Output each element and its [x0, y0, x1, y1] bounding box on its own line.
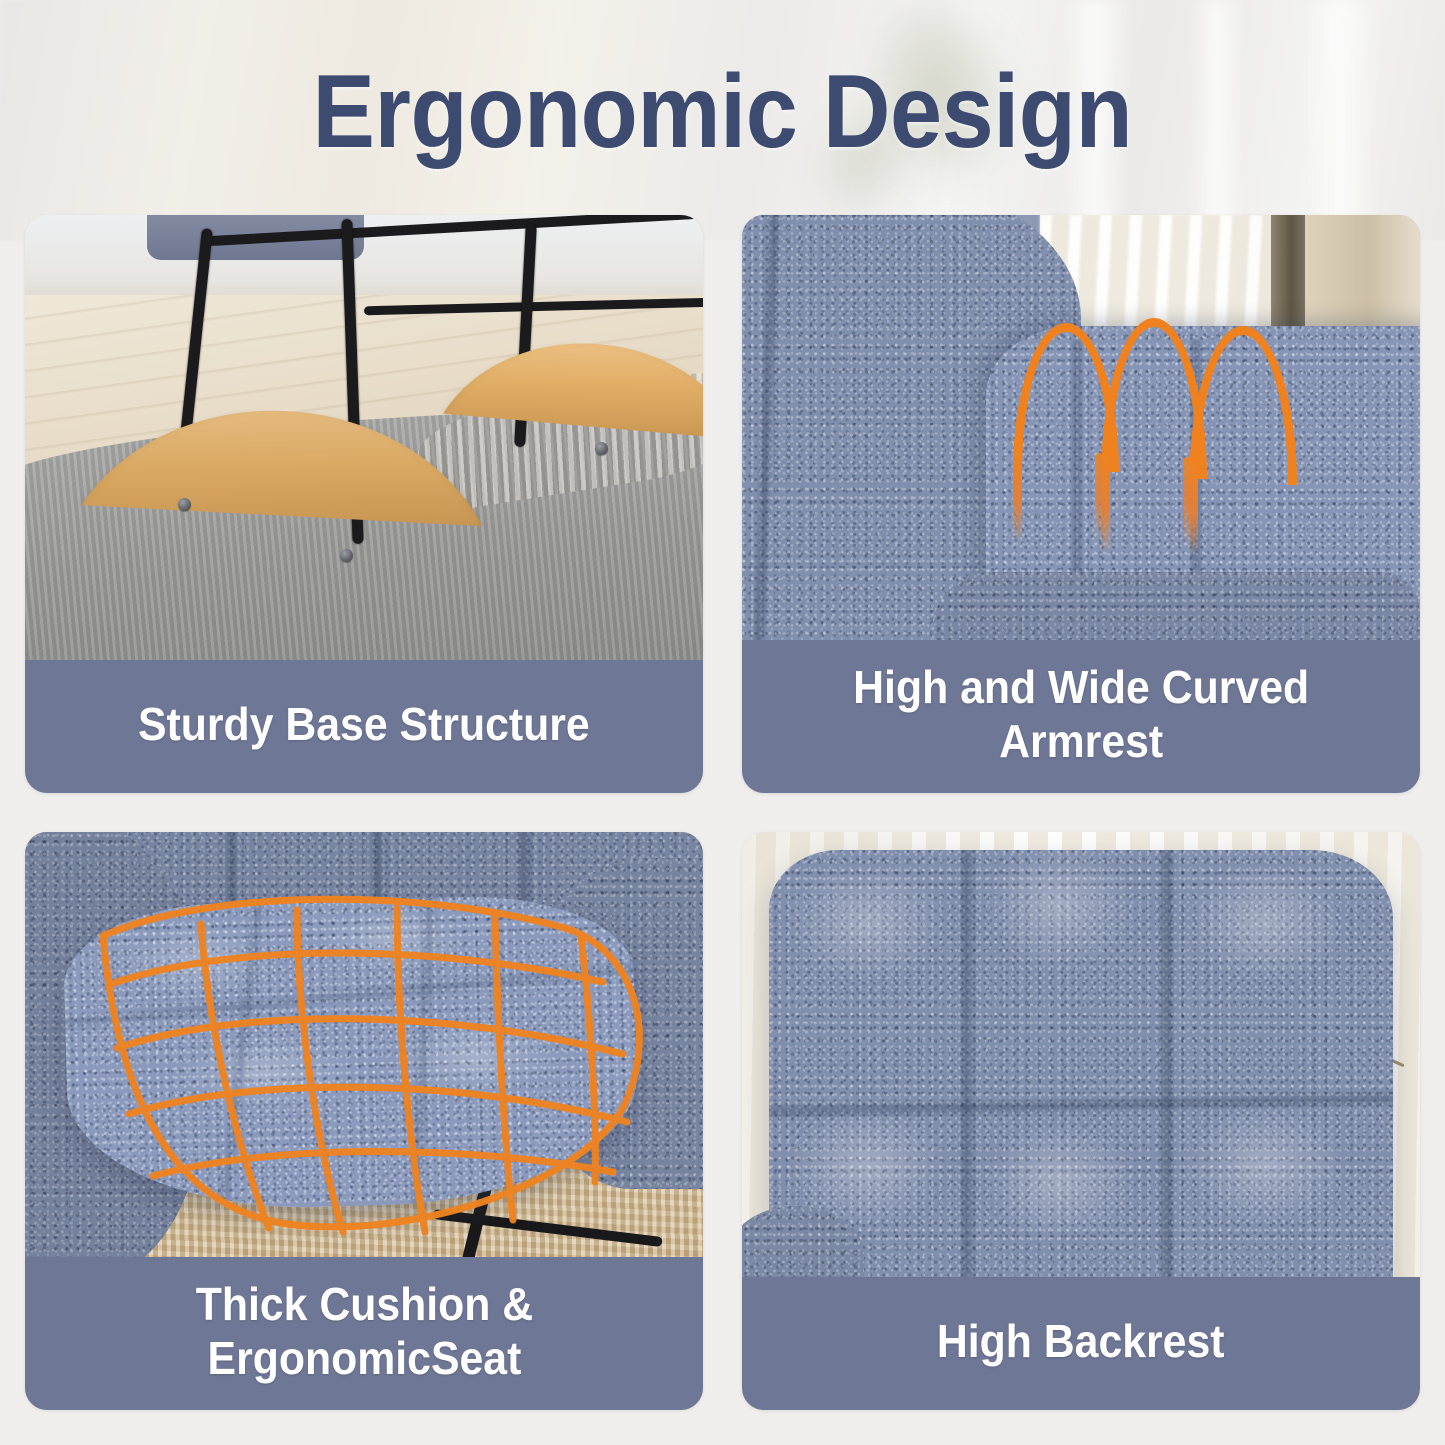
feature-card-thick-cushion[interactable]: Thick Cushion & ErgonomicSeat	[25, 832, 703, 1410]
photo-screw	[595, 442, 608, 455]
photo-curved-armrest	[742, 215, 1420, 640]
page-title: Ergonomic Design	[313, 58, 1133, 167]
feature-card-curved-armrest[interactable]: High and Wide Curved Armrest	[742, 215, 1420, 793]
caption-text: High Backrest	[937, 1315, 1225, 1369]
photo-armrest-front	[932, 572, 1420, 640]
caption-text: Sturdy Base Structure	[138, 698, 590, 752]
caption-text: Thick Cushion & ErgonomicSeat	[195, 1278, 533, 1386]
photo-screw	[340, 549, 353, 562]
overlay-arrow-tail	[1183, 457, 1192, 543]
feature-card-sturdy-base[interactable]: Sturdy Base Structure	[25, 215, 703, 793]
photo-thick-cushion	[25, 832, 703, 1257]
photo-high-backrest	[742, 832, 1420, 1277]
photo-screw	[178, 498, 191, 511]
caption-bar-curved-armrest: High and Wide Curved Armrest	[742, 640, 1420, 793]
photo-armrest-stub	[742, 1206, 864, 1277]
caption-bar-sturdy-base: Sturdy Base Structure	[25, 660, 703, 793]
feature-card-high-backrest[interactable]: High Backrest	[742, 832, 1420, 1410]
infographic-poster: Ergonomic Design	[0, 0, 1445, 1445]
photo-boucle-texture	[742, 1206, 864, 1277]
overlay-arrow-tail	[1013, 453, 1022, 541]
caption-bar-high-backrest: High Backrest	[742, 1277, 1420, 1410]
overlay-arrow-tail	[1095, 453, 1104, 537]
photo-fabric-seam	[1162, 850, 1172, 1277]
photo-sturdy-base	[25, 215, 703, 660]
caption-bar-thick-cushion: Thick Cushion & ErgonomicSeat	[25, 1257, 703, 1410]
caption-text: High and Wide Curved Armrest	[853, 661, 1309, 769]
feature-card-grid: Sturdy Base Structure	[25, 215, 1420, 1410]
poster-header: Ergonomic Design	[0, 58, 1445, 167]
photo-wood-block	[323, 1215, 404, 1253]
photo-boucle-texture	[932, 572, 1420, 640]
photo-fabric-seam	[962, 850, 972, 1277]
photo-seat-cushion	[62, 893, 639, 1214]
